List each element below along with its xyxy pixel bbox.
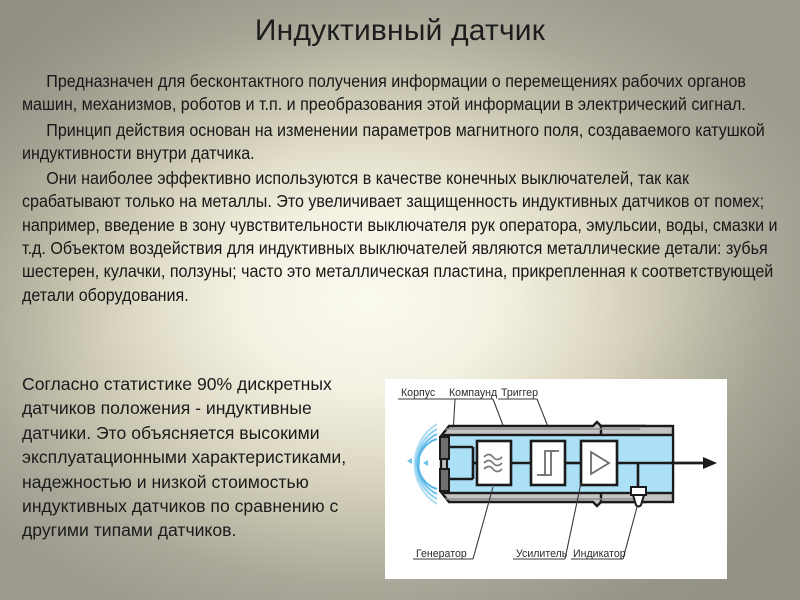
trigger-block xyxy=(531,441,565,485)
paragraph-statistics: Согласно статистике 90% дискретных датчи… xyxy=(22,372,378,543)
slide-canvas: Индуктивный датчик Предназначен для беск… xyxy=(0,0,800,600)
generator-block xyxy=(477,441,511,485)
amplifier-block xyxy=(581,441,617,485)
page-title: Индуктивный датчик xyxy=(0,14,800,48)
led-indicator xyxy=(631,487,646,507)
label-korpus: Корпус xyxy=(401,387,436,399)
output-signal-arrow xyxy=(671,457,717,469)
paragraph-1: Предназначен для бесконтактного получени… xyxy=(22,70,778,117)
label-kompaund: Компаунд xyxy=(449,387,497,399)
inductive-sensor-diagram: Корпус Компаунд Триггер Генератор Усилит… xyxy=(385,379,727,579)
label-indikator: Индикатор xyxy=(573,548,626,560)
label-trigger: Триггер xyxy=(501,387,538,399)
label-generator: Генератор xyxy=(416,548,467,560)
body-text-block: Предназначен для бесконтактного получени… xyxy=(22,70,778,307)
paragraph-2: Принцип действия основан на изменении па… xyxy=(22,119,778,166)
paragraph-3: Они наиболее эффективно используются в к… xyxy=(22,167,778,307)
label-usilitel: Усилитель xyxy=(516,548,568,560)
